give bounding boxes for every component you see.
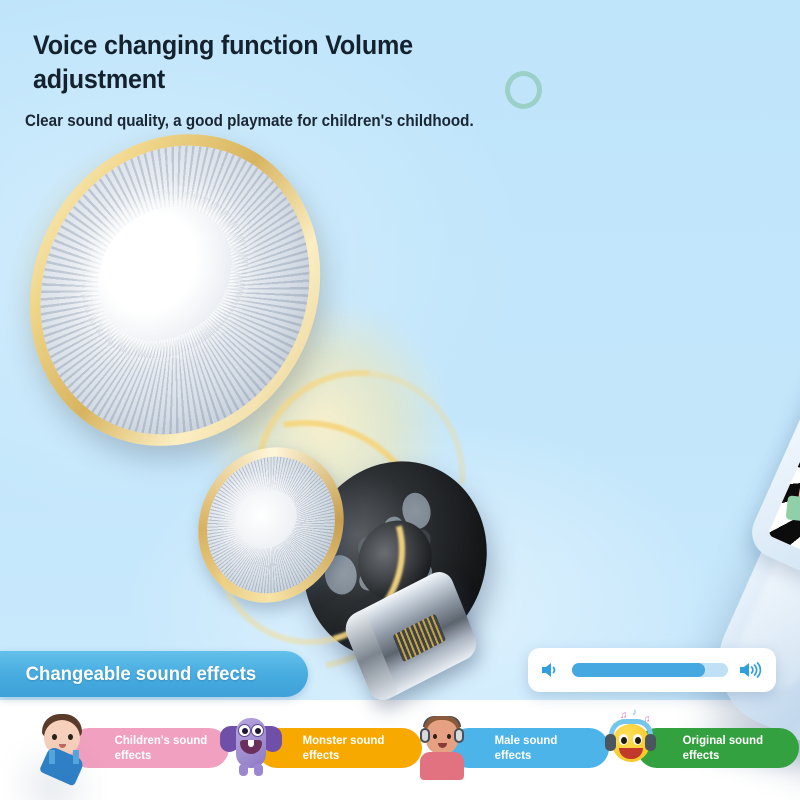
smiley-headphones-avatar: ♫♪♫ bbox=[598, 710, 662, 780]
speaker-high-icon bbox=[738, 660, 764, 680]
section-banner: Changeable sound effects bbox=[0, 651, 308, 697]
speaker-low-icon bbox=[540, 660, 562, 680]
product-feature-page: Voice changing function Volume adjustmen… bbox=[0, 0, 800, 800]
volume-slider-track[interactable] bbox=[572, 663, 728, 677]
decorative-ring-icon bbox=[505, 71, 542, 109]
screen-cuff bbox=[786, 495, 800, 521]
walkie-talkie-product bbox=[350, 110, 800, 670]
sound-effects-list: Children's sound effects Monster sound e… bbox=[0, 700, 800, 800]
man-headphones-avatar bbox=[410, 710, 474, 780]
volume-control[interactable] bbox=[528, 648, 776, 692]
sound-effect-chip-male[interactable]: Male sound effects bbox=[404, 720, 609, 772]
section-banner-label: Changeable sound effects bbox=[0, 663, 256, 686]
page-title: Voice changing function Volume adjustmen… bbox=[33, 28, 470, 97]
sound-effect-chip-original[interactable]: Original sound effects ♫♪♫ bbox=[592, 720, 797, 772]
volume-slider-fill bbox=[572, 663, 705, 677]
sound-effect-chip-monster[interactable]: Monster sound effects bbox=[212, 720, 427, 772]
sound-effect-chip-children[interactable]: Children's sound effects bbox=[24, 720, 234, 772]
child-avatar bbox=[30, 710, 94, 780]
monster-avatar bbox=[218, 710, 282, 780]
